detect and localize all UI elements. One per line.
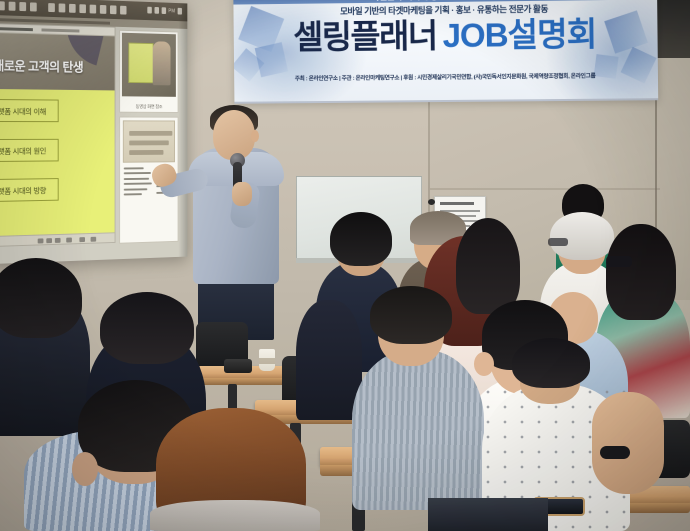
banner-title-part2: JOB설명회 xyxy=(442,15,596,54)
slide-bullet: 랫폼 시대의 원인 xyxy=(0,139,59,162)
wallet xyxy=(224,359,252,373)
taskbar-icon xyxy=(0,1,5,10)
slide-bullet: 랫폼 시대의 방향 xyxy=(0,178,59,202)
video-thumbnail-caption: 동영상 화면 참조 xyxy=(120,104,178,110)
projection-screen: PM 새로운 고객의 탄생 랫폼 시대의 이해 랫폼 시대의 원인 랫폼 시대의… xyxy=(0,0,187,264)
person-top xyxy=(352,350,484,510)
person-top xyxy=(150,500,320,531)
event-banner: 모바일을 주머니에 넣고 다니는 시대를 지나서! 모바일 기반의 타겟마케팅을… xyxy=(233,0,658,104)
coffee-cup xyxy=(259,349,275,371)
person-hair xyxy=(330,212,392,266)
slide-statusbar xyxy=(0,232,115,246)
slide-title: 새로운 고객의 탄생 xyxy=(0,55,83,75)
banner-sponsors: 주최 : 온라인연구소 | 주관 : 온라인마케팅연구소 | 후원 : 시민경제… xyxy=(234,71,658,83)
slide-hero-image: 새로운 고객의 탄생 xyxy=(0,33,115,90)
person-hair xyxy=(100,292,194,364)
glasses-icon xyxy=(606,256,632,267)
slide-body: 랫폼 시대의 이해 랫폼 시대의 원인 랫폼 시대의 방향 xyxy=(0,89,115,236)
slide-bullet: 랫폼 시대의 이해 xyxy=(0,99,59,122)
desk-edge xyxy=(197,378,295,385)
person-hair xyxy=(456,218,520,314)
person-hair xyxy=(606,224,676,320)
video-thumbnail: 동영상 화면 참조 xyxy=(119,30,178,113)
person-hair xyxy=(512,338,590,388)
taskbar-icon xyxy=(30,2,37,11)
person-top xyxy=(428,498,548,531)
taskbar-icon xyxy=(19,2,26,11)
banner-title-part1: 셀링플래너 xyxy=(293,17,437,55)
person-ear xyxy=(72,452,98,486)
person-hair xyxy=(550,212,614,260)
speaker-right-hand xyxy=(232,182,252,206)
presentation-slide: 새로운 고객의 탄생 랫폼 시대의 이해 랫폼 시대의 원인 랫폼 시대의 방향 xyxy=(0,23,116,247)
speaker-ear xyxy=(251,130,259,142)
person-hair xyxy=(0,258,82,338)
glasses-icon xyxy=(548,238,568,246)
person-hair xyxy=(370,286,452,344)
person-arm xyxy=(592,392,664,494)
person-ear xyxy=(474,352,494,376)
person-top xyxy=(296,300,362,420)
wristband xyxy=(600,446,630,459)
banner-title: 셀링플래너JOB설명회 xyxy=(234,17,658,55)
notice-hook xyxy=(428,199,435,205)
taskbar-icon xyxy=(9,2,16,11)
seminar-photo: PM 새로운 고객의 탄생 랫폼 시대의 이해 랫폼 시대의 원인 랫폼 시대의… xyxy=(0,0,690,531)
wall-seam xyxy=(430,188,660,190)
